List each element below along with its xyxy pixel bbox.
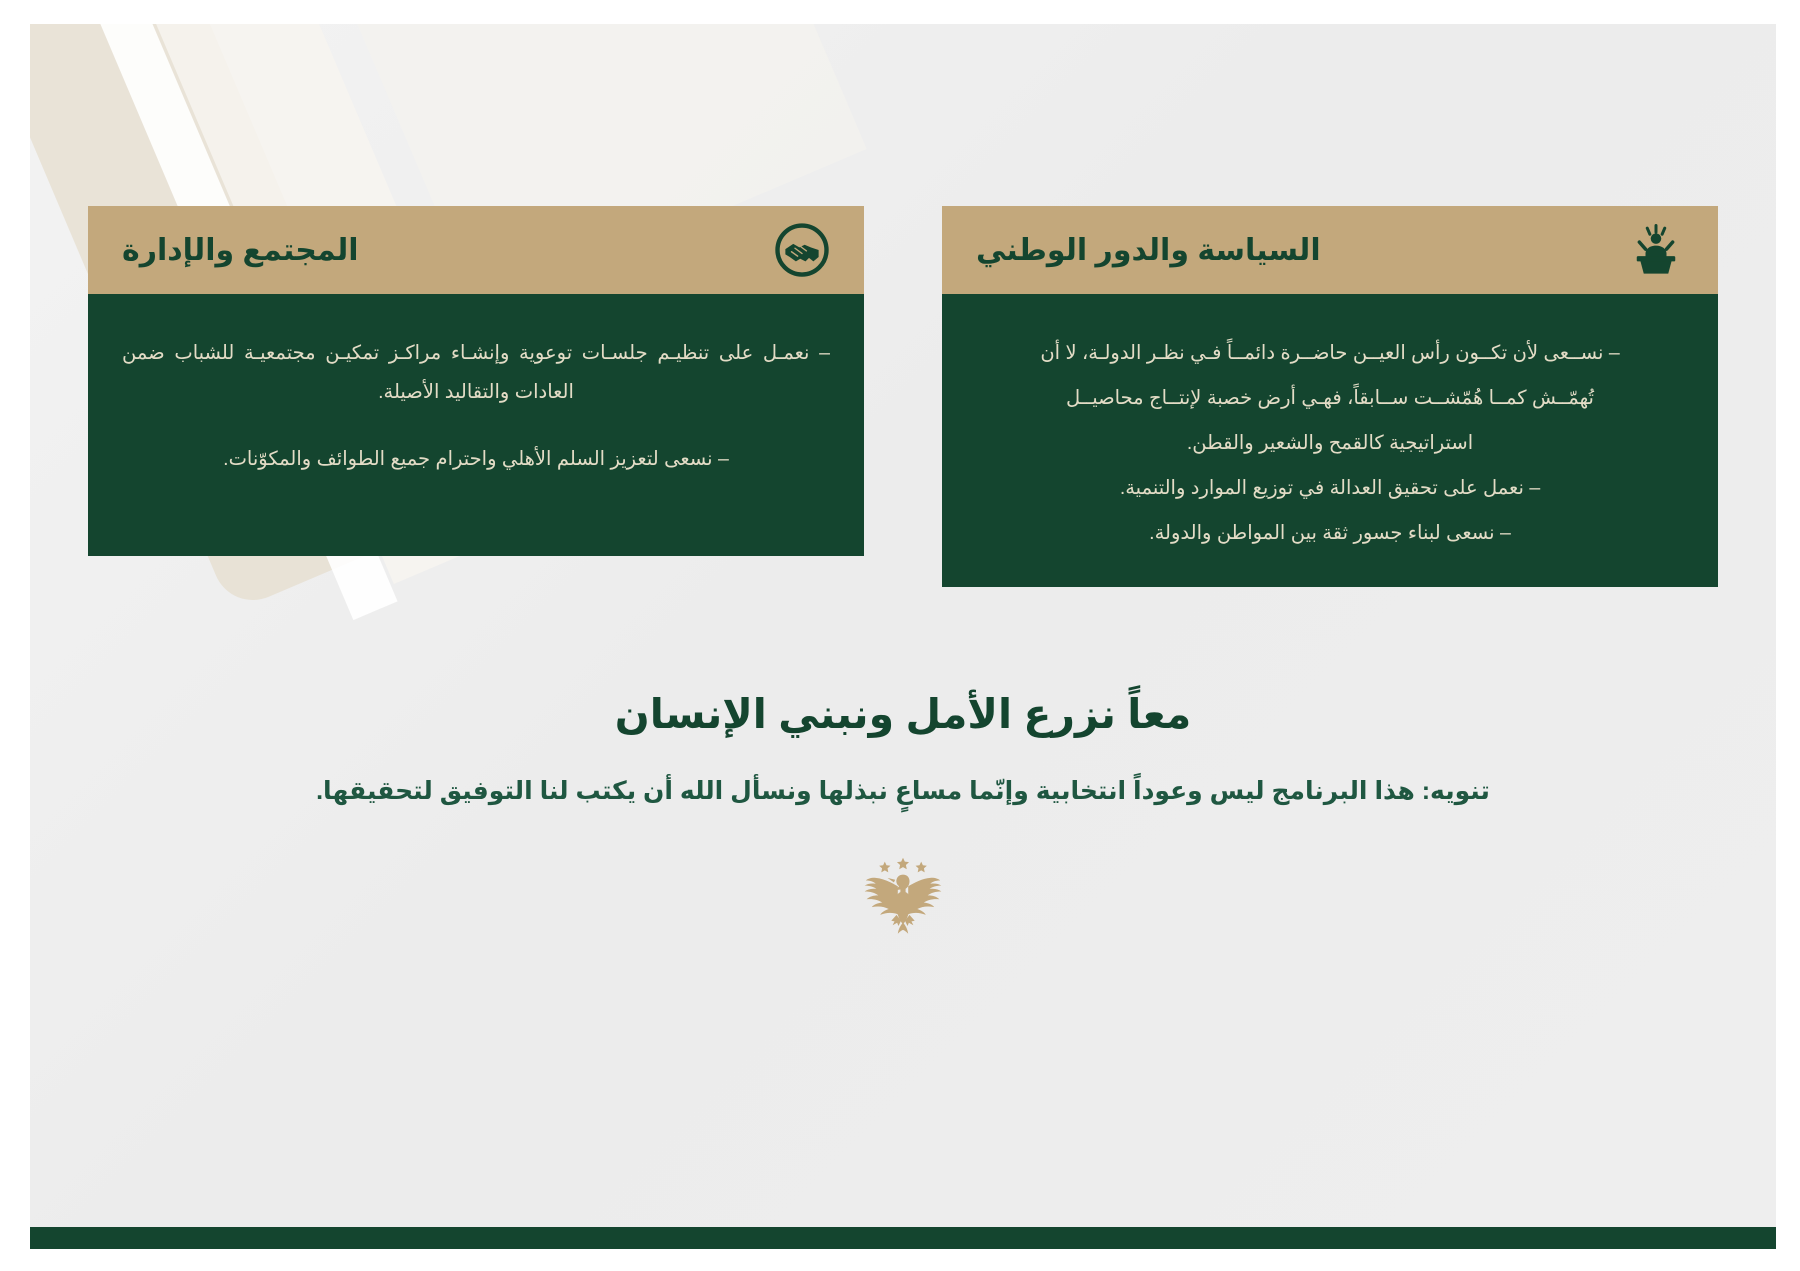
card-society-paragraph: – نعمـل على تنظيـم جلسـات توعوية وإنشـاء…: [122, 334, 830, 412]
card-society: المجتمع والإدارة – نعمـل على تنظيـم جلسـ…: [88, 206, 864, 587]
page-margin-top: [0, 0, 1800, 24]
card-politics-line: تُهمّــش كمــا هُمّشــت ســابقاً، فهـي أ…: [976, 379, 1684, 418]
eagle-with-three-stars-emblem: [30, 852, 1776, 944]
card-society-paragraph: – نسعى لتعزيز السلم الأهلي واحترام جميع …: [122, 440, 830, 479]
slide-canvas: السياسة والدور الوطني: [30, 24, 1776, 1249]
tagline: معاً نزرع الأمل ونبني الإنسان: [30, 690, 1776, 738]
card-society-body: – نعمـل على تنظيـم جلسـات توعوية وإنشـاء…: [88, 294, 864, 556]
card-politics-header: السياسة والدور الوطني: [942, 206, 1718, 294]
card-politics-title: السياسة والدور الوطني: [976, 233, 1321, 268]
card-politics-line: – نســعى لأن تكــون رأس العيــن حاضــرة …: [976, 334, 1684, 373]
page-margin-bottom: [0, 1249, 1800, 1271]
podium-speaker-icon: [1628, 222, 1684, 278]
card-politics-line: استراتيجية كالقمح والشعير والقطن.: [976, 424, 1684, 463]
page-margin-left: [0, 0, 30, 1271]
footer-bar: [30, 1227, 1776, 1249]
card-society-header: المجتمع والإدارة: [88, 206, 864, 294]
page-margin-right: [1776, 0, 1800, 1271]
disclaimer-note: تنويه: هذا البرنامج ليس وعوداً انتخابية …: [30, 776, 1776, 806]
handshake-circle-icon: [774, 222, 830, 278]
cards-row: السياسة والدور الوطني: [88, 206, 1718, 587]
card-society-title: المجتمع والإدارة: [122, 233, 359, 268]
slide-root: السياسة والدور الوطني: [0, 0, 1800, 1271]
card-politics: السياسة والدور الوطني: [942, 206, 1718, 587]
card-politics-line: – نسعى لبناء جسور ثقة بين المواطن والدول…: [976, 514, 1684, 553]
card-politics-line: – نعمل على تحقيق العدالة في توزيع الموار…: [976, 469, 1684, 508]
card-politics-body: – نســعى لأن تكــون رأس العيــن حاضــرة …: [942, 294, 1718, 587]
